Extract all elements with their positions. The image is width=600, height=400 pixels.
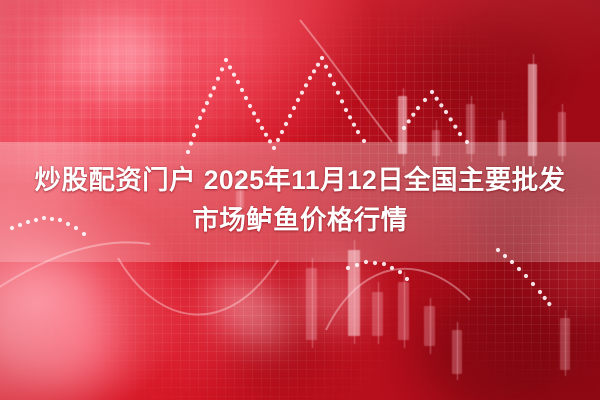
- title-line-2: 市场鲈鱼价格行情: [18, 200, 582, 240]
- blob-right-pink-2: [236, 296, 292, 350]
- curve-arc-lowright: [326, 269, 470, 330]
- candle-14-wick: [565, 310, 566, 376]
- candle-12-wick: [457, 322, 458, 380]
- candle-10-wick: [430, 298, 431, 354]
- candle-9: [398, 282, 409, 340]
- candle-8-wick: [378, 282, 379, 344]
- candle-14: [560, 318, 570, 370]
- candle-8: [372, 292, 383, 336]
- curve-rise-right: [300, 20, 392, 142]
- curve-valley-center: [118, 258, 278, 315]
- blob-right-low-dark: [420, 290, 570, 400]
- blob-center-dark: [236, 300, 324, 398]
- stock-news-banner: 炒股配资门户 2025年11月12日全国主要批发 市场鲈鱼价格行情: [0, 0, 600, 400]
- candle-12: [452, 330, 462, 374]
- blob-right-pink-low: [300, 262, 370, 332]
- blob-right-upper-dark: [420, 16, 570, 136]
- candle-7: [348, 250, 360, 336]
- blob-top-left-bright: [52, 6, 162, 98]
- candle-10: [424, 306, 435, 346]
- candle-11-wick: [312, 258, 313, 348]
- blob-left-low: [0, 262, 104, 382]
- candle-11: [306, 268, 317, 340]
- zigzag-primary: [186, 56, 366, 154]
- blob-left-low-2: [36, 300, 126, 396]
- blob-right-pink-1: [208, 272, 270, 330]
- blob-center-low: [150, 286, 246, 376]
- candle-9-wick: [404, 272, 405, 348]
- dot-arc-lowright: [346, 260, 409, 281]
- zigzag-secondary: [402, 90, 469, 144]
- blob-upper-left-glow: [96, 26, 168, 88]
- page-title: 炒股配资门户 2025年11月12日全国主要批发 市场鲈鱼价格行情: [0, 160, 600, 240]
- title-line-1: 炒股配资门户 2025年11月12日全国主要批发: [18, 160, 582, 200]
